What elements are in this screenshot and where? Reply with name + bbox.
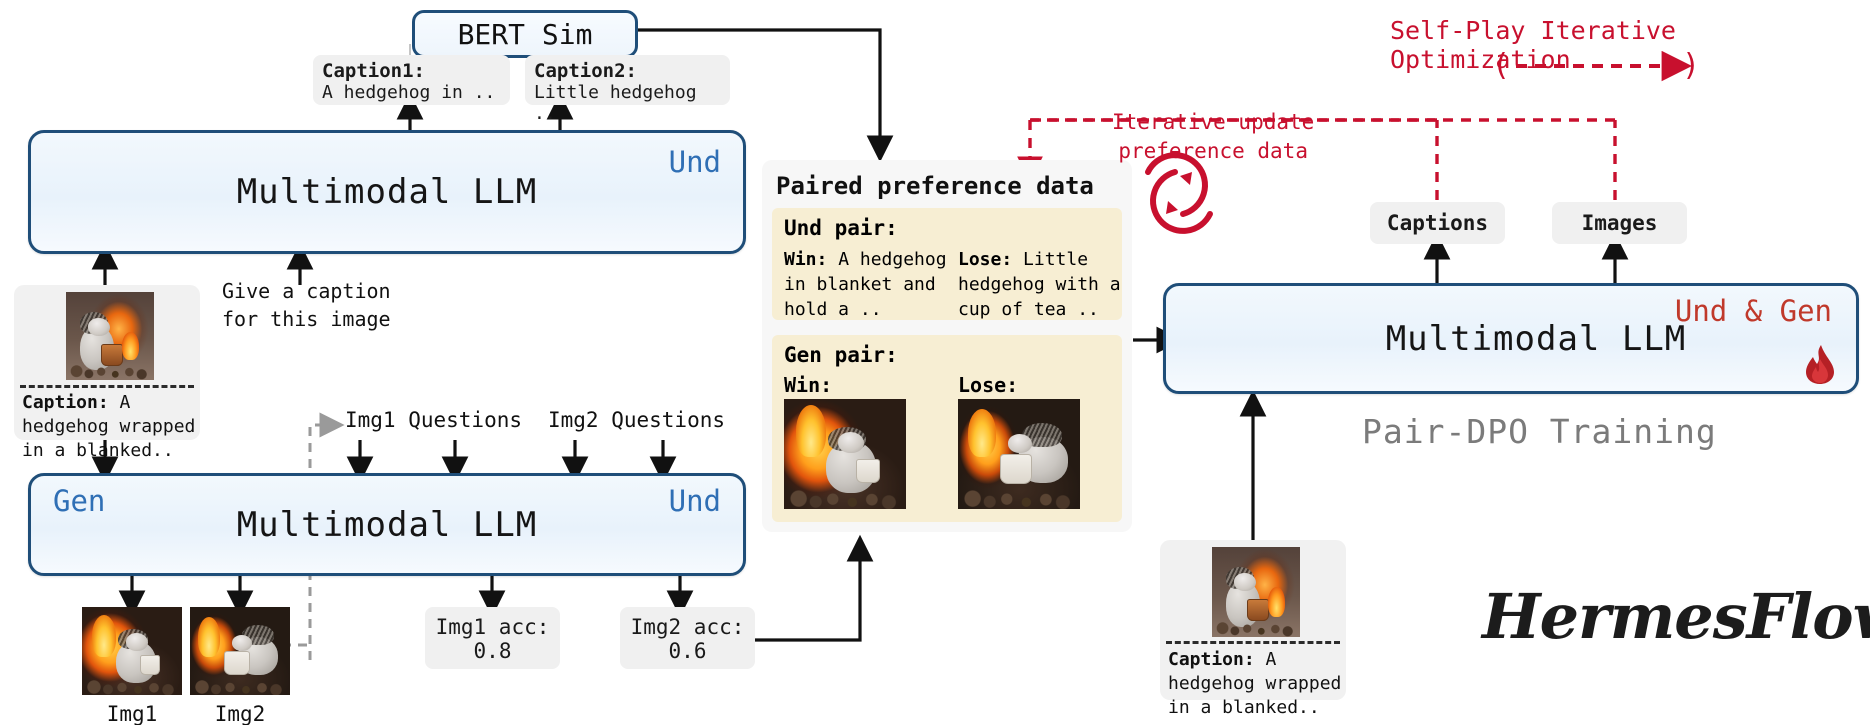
generated-image-1-label: Img1 (82, 702, 182, 725)
caption1-text: A hedgehog in .. (322, 82, 501, 103)
gen-pair-heading: Gen pair: (784, 343, 898, 367)
img1-questions-label: Img1 Questions (345, 408, 522, 432)
flame-icon (1800, 343, 1840, 385)
paired-preference-panel: Paired preference data Und pair: Win: A … (762, 160, 1132, 532)
iterative-update-text: Iterative update preference data (1112, 108, 1314, 166)
img1-accuracy-chip: Img1 acc: 0.8 (425, 607, 560, 669)
selfplay-paren-close: ) (1682, 48, 1700, 83)
bert-sim-label: BERT Sim (458, 18, 593, 51)
input-caption-label: Caption: (22, 392, 109, 413)
input-hedgehog-image (66, 292, 154, 380)
generated-image-1 (82, 607, 182, 695)
training-caption-line3: in a blanked.. (1168, 697, 1320, 718)
img1-accuracy-label: Img1 acc: (435, 615, 550, 639)
und-pair-win-label: Win: (784, 249, 827, 270)
training-image-card: Caption: A hedgehog wrapped in a blanked… (1160, 540, 1346, 700)
selfplay-title: Self-Play Iterative Optimization (1390, 16, 1870, 74)
input-image-card: Caption: A hedgehog wrapped in a blanked… (14, 285, 200, 440)
training-image-caption: Caption: A hedgehog wrapped in a blanked… (1168, 648, 1344, 719)
img2-questions-label: Img2 Questions (548, 408, 725, 432)
und-pair-lose-line2: hedgehog with a (958, 274, 1121, 295)
und-pair-block: Und pair: Win: A hedgehog in blanket and… (772, 208, 1122, 320)
iterative-update-line2: preference data (1112, 137, 1314, 166)
und-pair-lose-line1: Little (1023, 249, 1088, 270)
card-dashed-separator (20, 385, 194, 388)
input-caption-line3: in a blanked.. (22, 440, 174, 461)
preference-panel-title: Paired preference data (776, 172, 1094, 200)
caption2-text: Little hedgehog .. (534, 82, 721, 124)
training-caption-label: Caption: (1168, 649, 1255, 670)
gen-und-llm-tag-left: Gen (53, 484, 105, 518)
gen-und-llm-title: Multimodal LLM (31, 505, 743, 545)
und-pair-lose: Lose: Little hedgehog with a cup of tea … (958, 248, 1124, 322)
img2-accuracy-chip: Img2 acc: 0.6 (620, 607, 755, 669)
caption2-label: Caption2: (534, 60, 721, 82)
und-llm-title: Multimodal LLM (31, 172, 743, 212)
input-caption-line2: hedgehog wrapped (22, 416, 195, 437)
caption-prompt-text: Give a caption for this image (222, 278, 391, 333)
caption1-label: Caption1: (322, 60, 501, 82)
training-caption-line2: hedgehog wrapped (1168, 673, 1341, 694)
pair-dpo-training-label: Pair-DPO Training (1362, 412, 1717, 451)
input-image-caption: Caption: A hedgehog wrapped in a blanked… (22, 391, 198, 462)
und-pair-lose-line3: cup of tea .. (958, 299, 1099, 320)
und-multimodal-llm-box[interactable]: Multimodal LLM Und (28, 130, 746, 254)
gen-pair-win-label: Win: (784, 373, 832, 397)
training-hedgehog-image (1212, 547, 1300, 637)
bert-sim-box[interactable]: BERT Sim (412, 10, 638, 58)
prompt-line2: for this image (222, 306, 391, 334)
gen-pair-lose-label: Lose: (958, 373, 1018, 397)
caption2-chip: Caption2: Little hedgehog .. (525, 55, 730, 105)
training-multimodal-llm-box[interactable]: Multimodal LLM Und & Gen (1163, 283, 1859, 394)
images-output-label: Images (1582, 211, 1658, 235)
selfplay-paren-open: ( (1492, 48, 1510, 83)
gen-pair-block: Gen pair: Win: Lose: (772, 335, 1122, 522)
gen-pair-lose-image (958, 399, 1080, 509)
und-pair-win: Win: A hedgehog in blanket and hold a .. (784, 248, 952, 322)
img2-accuracy-value: 0.6 (630, 639, 745, 663)
iterative-update-line1: Iterative update (1112, 108, 1314, 137)
und-llm-tag: Und (669, 145, 721, 179)
gen-pair-win-image (784, 399, 906, 509)
und-pair-win-line2: in blanket and (784, 274, 936, 295)
gen-und-llm-tag-right: Und (669, 484, 721, 518)
diagram-canvas: BERT Sim Caption1: A hedgehog in .. Capt… (0, 0, 1870, 725)
img2-accuracy-label: Img2 acc: (630, 615, 745, 639)
training-caption-line1: A (1266, 649, 1277, 670)
captions-output-label: Captions (1387, 211, 1488, 235)
training-card-dashed-separator (1166, 641, 1340, 644)
caption1-chip: Caption1: A hedgehog in .. (313, 55, 510, 105)
hermesflow-logo: HermesFlow (1482, 580, 1870, 653)
generated-image-2 (190, 607, 290, 695)
input-caption-line1: A (120, 392, 131, 413)
images-output-chip: Images (1552, 202, 1687, 244)
generated-image-2-label: Img2 (190, 702, 290, 725)
gen-und-multimodal-llm-box[interactable]: Multimodal LLM Gen Und (28, 473, 746, 576)
prompt-line1: Give a caption (222, 278, 391, 306)
captions-output-chip: Captions (1370, 202, 1505, 244)
und-pair-heading: Und pair: (784, 216, 898, 240)
training-llm-tag: Und & Gen (1675, 294, 1832, 328)
und-pair-win-line1: A hedgehog (838, 249, 946, 270)
und-pair-lose-label: Lose: (958, 249, 1012, 270)
img1-accuracy-value: 0.8 (435, 639, 550, 663)
und-pair-win-line3: hold a .. (784, 299, 882, 320)
